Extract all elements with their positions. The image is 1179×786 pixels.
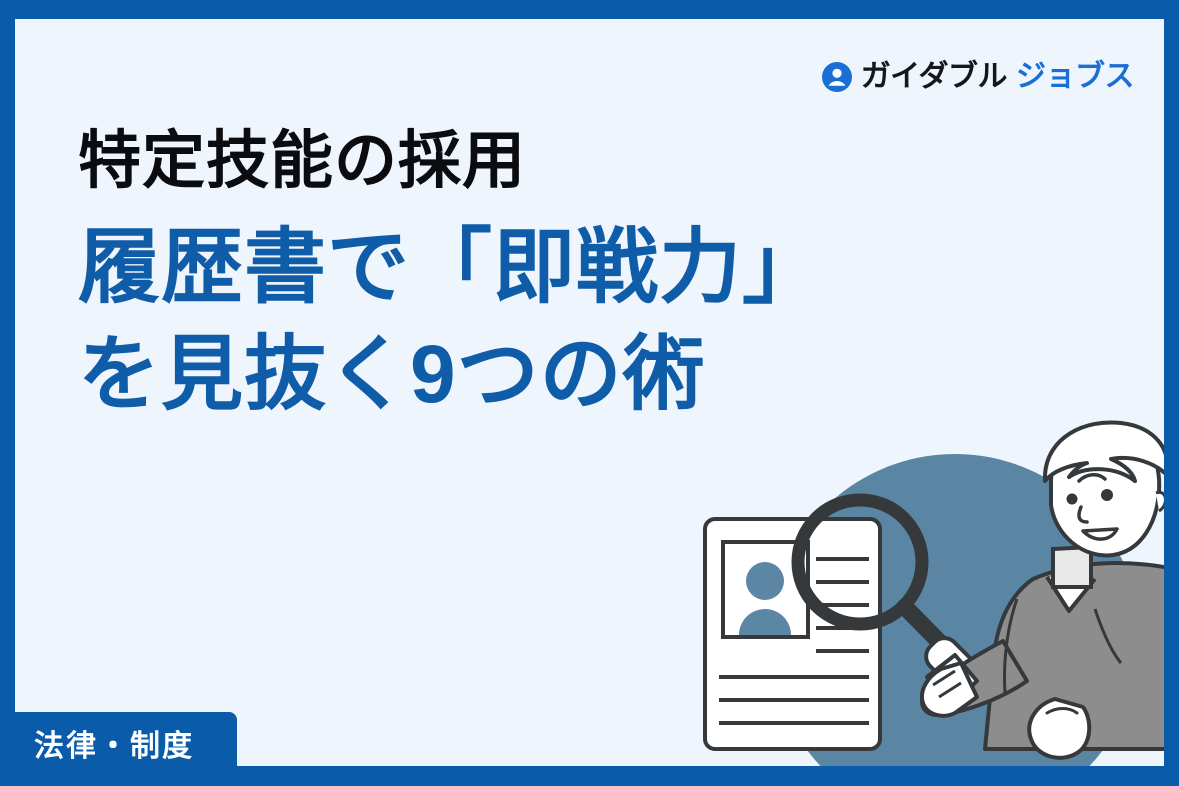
category-badge-label: 法律・制度 bbox=[34, 732, 194, 762]
brand-name-secondary: ジョブス bbox=[1016, 62, 1134, 92]
resting-fist bbox=[1029, 699, 1089, 758]
headline-subtitle: 特定技能の採用 bbox=[78, 124, 1008, 198]
banner-root: ガイダブル ジョブス 特定技能の採用 履歴書で「即戦力」 を見抜く9つの術 bbox=[0, 0, 1179, 786]
person-in-circle-icon bbox=[822, 62, 852, 92]
headline-title-line-1: 履歴書で「即戦力」 bbox=[78, 220, 1008, 317]
illustration bbox=[655, 419, 1164, 766]
banner-panel: ガイダブル ジョブス 特定技能の採用 履歴書で「即戦力」 を見抜く9つの術 bbox=[15, 19, 1164, 766]
brand-name-primary: ガイダブル bbox=[861, 62, 1007, 92]
headline-title-line-2: を見抜く9つの術 bbox=[78, 327, 1008, 424]
category-badge[interactable]: 法律・制度 bbox=[0, 712, 237, 786]
brand-logo[interactable]: ガイダブル ジョブス bbox=[822, 57, 1134, 97]
headline-block: 特定技能の採用 履歴書で「即戦力」 を見抜く9つの術 bbox=[78, 124, 1008, 424]
